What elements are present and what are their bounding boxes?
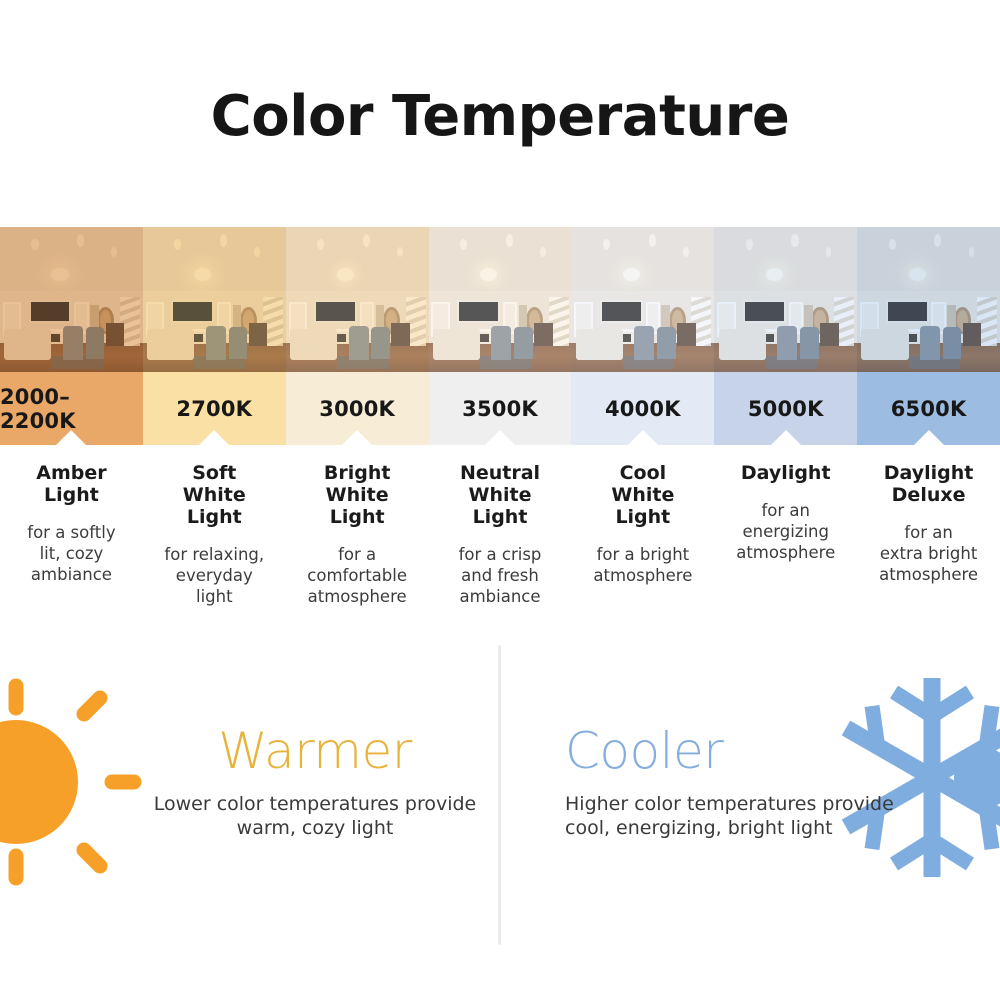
page-title: Color Temperature bbox=[0, 84, 1000, 149]
temperature-label: 3000K bbox=[319, 397, 395, 421]
band-notch-icon bbox=[485, 430, 515, 445]
band-notch-icon bbox=[771, 430, 801, 445]
temperature-description: Amber Lightfor a softly lit, cozy ambian… bbox=[0, 462, 143, 632]
warmer-heading: Warmer bbox=[150, 725, 480, 778]
photo-lift-overlay bbox=[714, 227, 857, 372]
photo-lift-overlay bbox=[286, 227, 429, 372]
band-notch-icon bbox=[56, 430, 86, 445]
cooler-heading: Cooler bbox=[565, 725, 905, 778]
temperature-column: 4000K bbox=[571, 227, 714, 445]
light-name: Daylight bbox=[724, 462, 847, 484]
temperature-description: Bright White Lightfor a comfortable atmo… bbox=[286, 462, 429, 632]
room-photo bbox=[571, 227, 714, 372]
light-description: for a crisp and fresh ambiance bbox=[439, 544, 562, 607]
light-description: for a bright atmosphere bbox=[581, 544, 704, 586]
temperature-column: 2000–2200K bbox=[0, 227, 143, 445]
band-notch-icon bbox=[199, 430, 229, 445]
light-name: Soft White Light bbox=[153, 462, 276, 528]
photo-lift-overlay bbox=[429, 227, 572, 372]
band-notch-icon bbox=[628, 430, 658, 445]
sun-icon bbox=[0, 672, 158, 892]
temperature-description: Cool White Lightfor a bright atmosphere bbox=[571, 462, 714, 632]
light-description: for a softly lit, cozy ambiance bbox=[10, 522, 133, 585]
temperature-description: Neutral White Lightfor a crisp and fresh… bbox=[429, 462, 572, 632]
room-photo bbox=[857, 227, 1000, 372]
room-photo bbox=[286, 227, 429, 372]
temperature-description: Daylight Deluxefor an extra bright atmos… bbox=[857, 462, 1000, 632]
light-description: for a comfortable atmosphere bbox=[296, 544, 419, 607]
band-notch-icon bbox=[914, 430, 944, 445]
photo-lift-overlay bbox=[143, 227, 286, 372]
infographic-page: Color Temperature 2000–2200K 2700K 3000K bbox=[0, 0, 1000, 1000]
color-temperature-strip: 2000–2200K 2700K 3000K 3500K 4000K bbox=[0, 227, 1000, 445]
room-photo bbox=[0, 227, 143, 372]
temperature-band: 2700K bbox=[143, 372, 286, 445]
warmer-blurb: Lower color temperatures provide warm, c… bbox=[150, 792, 480, 841]
temperature-label: 2000–2200K bbox=[0, 385, 143, 433]
temperature-label: 5000K bbox=[748, 397, 824, 421]
light-name: Cool White Light bbox=[581, 462, 704, 528]
temperature-band: 2000–2200K bbox=[0, 372, 143, 445]
light-name: Amber Light bbox=[10, 462, 133, 506]
section-divider bbox=[498, 645, 501, 945]
temperature-description: Soft White Lightfor relaxing, everyday l… bbox=[143, 462, 286, 632]
photo-lift-overlay bbox=[0, 227, 143, 372]
room-photo bbox=[143, 227, 286, 372]
temperature-label: 2700K bbox=[176, 397, 252, 421]
light-description: for relaxing, everyday light bbox=[153, 544, 276, 607]
temperature-column: 6500K bbox=[857, 227, 1000, 445]
photo-lift-overlay bbox=[857, 227, 1000, 372]
room-photo bbox=[429, 227, 572, 372]
temperature-label: 3500K bbox=[462, 397, 538, 421]
band-notch-icon bbox=[342, 430, 372, 445]
temperature-band: 3500K bbox=[429, 372, 572, 445]
temperature-band: 5000K bbox=[714, 372, 857, 445]
temperature-label: 4000K bbox=[605, 397, 681, 421]
temperature-label: 6500K bbox=[891, 397, 967, 421]
description-row: Amber Lightfor a softly lit, cozy ambian… bbox=[0, 462, 1000, 632]
room-photo bbox=[714, 227, 857, 372]
temperature-band: 3000K bbox=[286, 372, 429, 445]
temperature-description: Daylightfor an energizing atmosphere bbox=[714, 462, 857, 632]
temperature-band: 4000K bbox=[571, 372, 714, 445]
light-name: Bright White Light bbox=[296, 462, 419, 528]
temperature-column: 3000K bbox=[286, 227, 429, 445]
light-name: Daylight Deluxe bbox=[867, 462, 990, 506]
light-description: for an energizing atmosphere bbox=[724, 500, 847, 563]
light-description: for an extra bright atmosphere bbox=[867, 522, 990, 585]
cooler-block: Cooler Higher color temperatures provide… bbox=[565, 725, 905, 841]
temperature-band: 6500K bbox=[857, 372, 1000, 445]
temperature-column: 5000K bbox=[714, 227, 857, 445]
cooler-blurb: Higher color temperatures provide cool, … bbox=[565, 792, 905, 841]
photo-lift-overlay bbox=[571, 227, 714, 372]
warmer-block: Warmer Lower color temperatures provide … bbox=[150, 725, 480, 841]
temperature-column: 3500K bbox=[429, 227, 572, 445]
temperature-column: 2700K bbox=[143, 227, 286, 445]
light-name: Neutral White Light bbox=[439, 462, 562, 528]
